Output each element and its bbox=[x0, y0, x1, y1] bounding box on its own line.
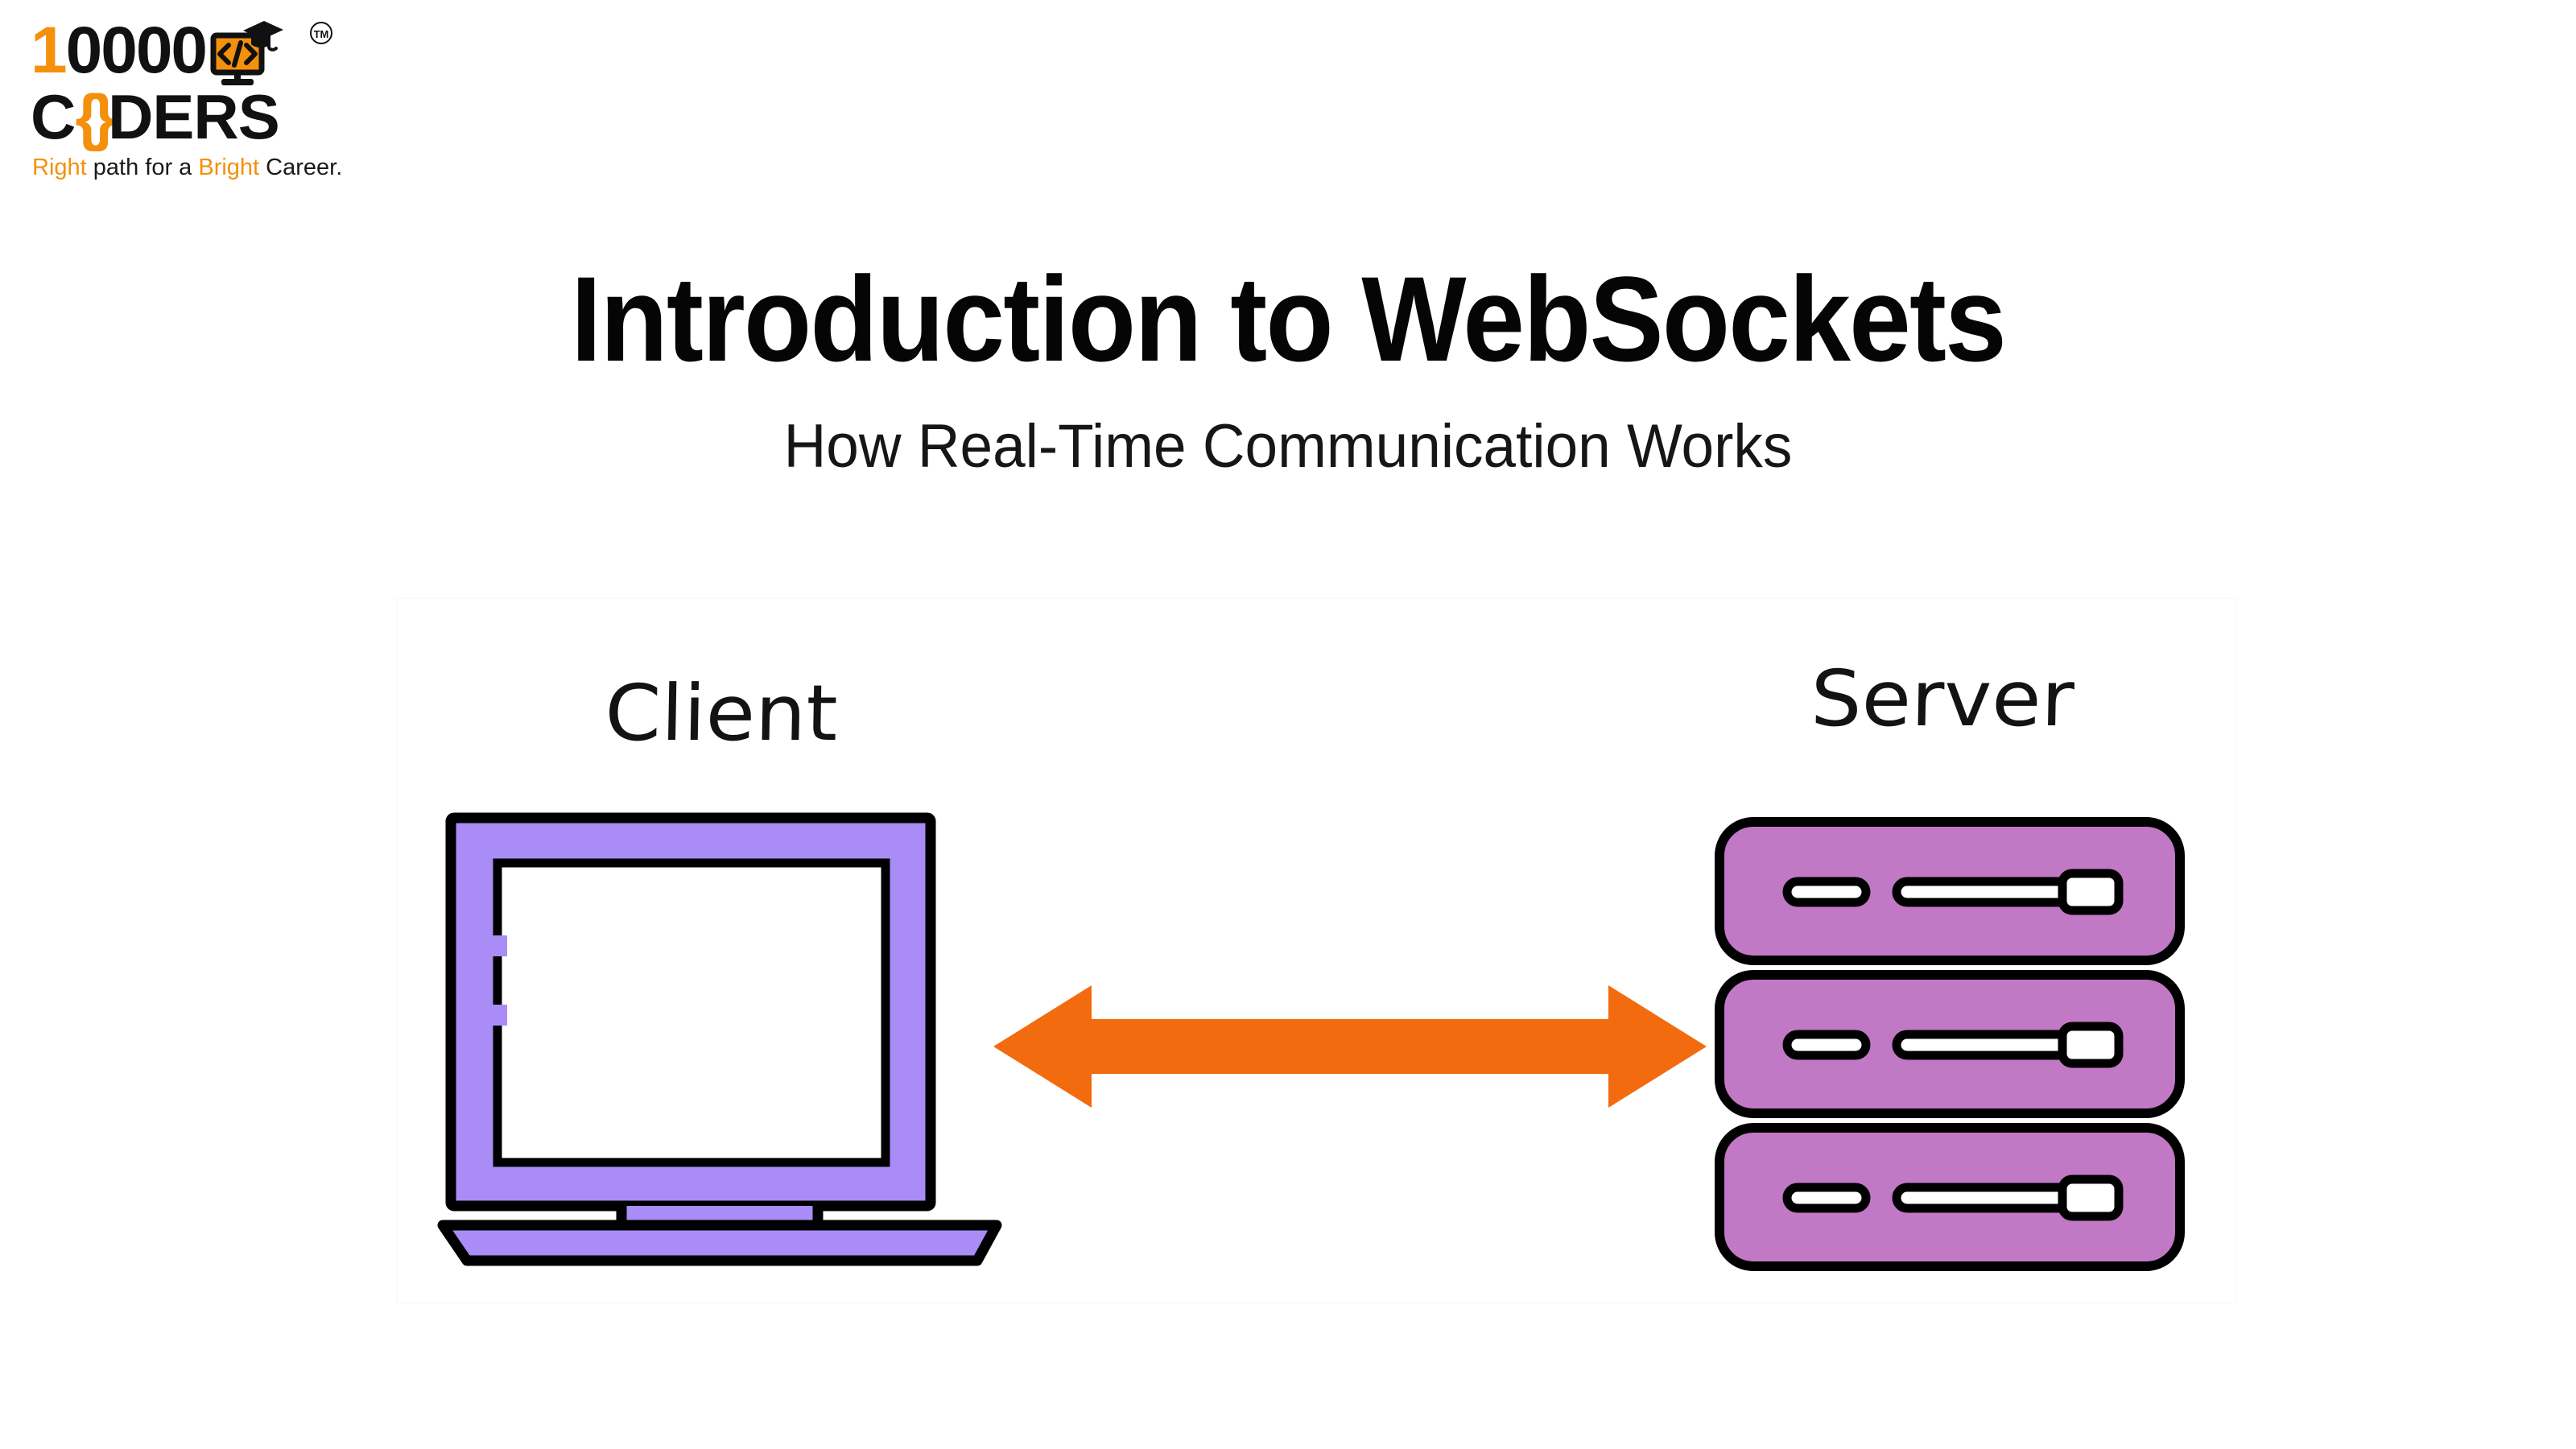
slide-canvas: 10000 bbox=[0, 0, 2576, 1449]
brand-logo[interactable]: 10000 bbox=[31, 6, 328, 185]
double-headed-arrow-icon bbox=[992, 974, 1708, 1119]
brand-word: C{}DERS bbox=[31, 85, 279, 148]
client-node-label: Client bbox=[570, 673, 873, 753]
brand-name-top-row: 10000 bbox=[31, 18, 285, 87]
brand-number: 10000 bbox=[31, 18, 206, 84]
monitor-code-graduation-cap-icon bbox=[211, 18, 285, 87]
page-subtitle: How Real-Time Communication Works bbox=[52, 409, 2524, 485]
page-title: Introduction to WebSockets bbox=[103, 254, 2473, 383]
tagline-highlight-right: Right bbox=[32, 155, 87, 180]
brand-number-rest: 0000 bbox=[66, 14, 206, 87]
server-rack-icon bbox=[1713, 817, 2196, 1272]
brand-number-accent-digit: 1 bbox=[31, 14, 66, 87]
brand-word-prefix: C bbox=[31, 81, 75, 152]
svg-text:TM: TM bbox=[314, 28, 329, 40]
brand-word-braces: {} bbox=[75, 81, 108, 152]
server-node-label: Server bbox=[1770, 658, 2115, 739]
tagline-highlight-bright: Bright bbox=[198, 155, 259, 180]
tagline-end: Career. bbox=[259, 155, 342, 180]
laptop-icon bbox=[440, 813, 1011, 1264]
tagline-mid: path for a bbox=[87, 155, 199, 180]
trademark-symbol: TM bbox=[309, 21, 333, 45]
brand-word-suffix: DERS bbox=[108, 81, 279, 152]
brand-tagline: Right path for a Bright Career. bbox=[32, 156, 342, 180]
